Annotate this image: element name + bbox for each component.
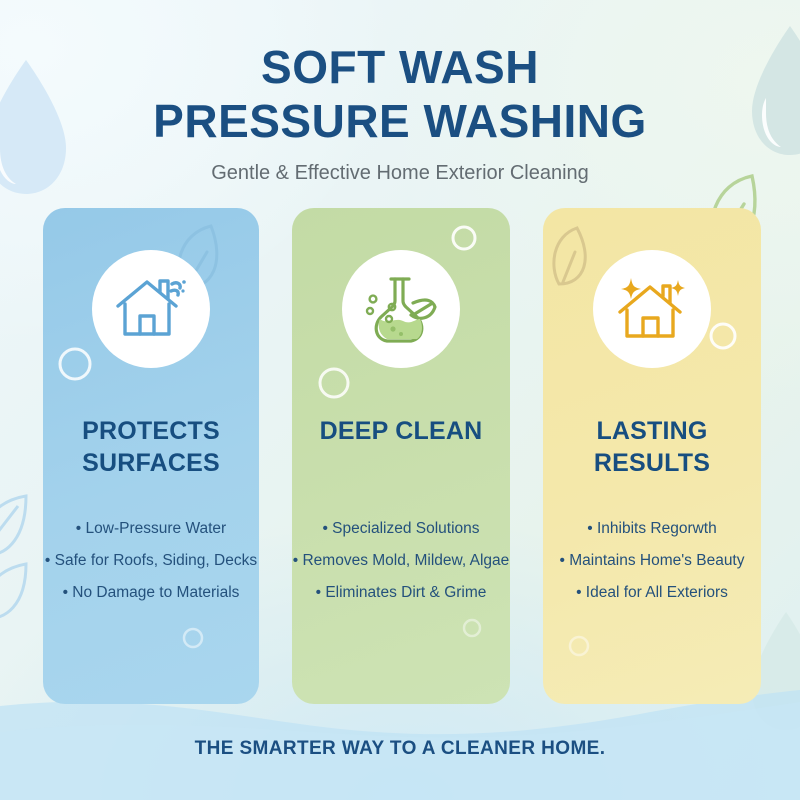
card-title: LASTING RESULTS — [543, 415, 761, 479]
list-item: • Maintains Home's Beauty — [543, 545, 761, 577]
card-title: DEEP CLEAN — [292, 415, 510, 447]
list-item: • No Damage to Materials — [43, 577, 259, 609]
footer-tagline: THE SMARTER WAY TO A CLEANER HOME. — [0, 738, 800, 760]
card-title-line-2: SURFACES — [43, 447, 259, 479]
house-sparkle-icon — [614, 276, 690, 342]
feature-card-protects-surfaces[interactable]: PROTECTS SURFACES • Low-Pressure Water •… — [43, 208, 259, 704]
card-bullet-list: • Specialized Solutions • Removes Mold, … — [292, 513, 510, 608]
title-line-2: PRESSURE WASHING — [0, 94, 800, 148]
title-line-1: SOFT WASH — [261, 41, 539, 93]
infographic-poster: SOFT WASH PRESSURE WASHING Gentle & Effe… — [0, 0, 800, 800]
list-item: • Removes Mold, Mildew, Algae — [292, 545, 510, 577]
list-item: • Specialized Solutions — [292, 513, 510, 545]
feature-cards: PROTECTS SURFACES • Low-Pressure Water •… — [0, 208, 800, 704]
list-item: • Ideal for All Exteriors — [543, 577, 761, 609]
list-item: • Eliminates Dirt & Grime — [292, 577, 510, 609]
card-title-line-1: LASTING — [543, 415, 761, 447]
card-title-line-2: RESULTS — [543, 447, 761, 479]
card-title-line-1: DEEP CLEAN — [292, 415, 510, 447]
list-item: • Low-Pressure Water — [43, 513, 259, 545]
feature-card-lasting-results[interactable]: LASTING RESULTS • Inhibits Regorwth • Ma… — [543, 208, 761, 704]
card-icon-badge — [593, 250, 711, 368]
poster-header: SOFT WASH PRESSURE WASHING Gentle & Effe… — [0, 0, 800, 185]
list-item: • Inhibits Regorwth — [543, 513, 761, 545]
card-icon-badge — [342, 250, 460, 368]
card-icon-badge — [92, 250, 210, 368]
page-title: SOFT WASH PRESSURE WASHING — [0, 40, 800, 149]
card-bullet-list: • Inhibits Regorwth • Maintains Home's B… — [543, 513, 761, 608]
house-chimney-smoke-icon — [114, 276, 188, 342]
page-subtitle: Gentle & Effective Home Exterior Cleanin… — [0, 162, 800, 185]
flask-leaf-icon — [363, 273, 439, 345]
card-title-line-1: PROTECTS — [43, 415, 259, 447]
card-title: PROTECTS SURFACES — [43, 415, 259, 479]
list-item: • Safe for Roofs, Siding, Decks — [43, 545, 259, 577]
feature-card-deep-clean[interactable]: DEEP CLEAN • Specialized Solutions • Rem… — [292, 208, 510, 704]
card-bullet-list: • Low-Pressure Water • Safe for Roofs, S… — [43, 513, 259, 608]
